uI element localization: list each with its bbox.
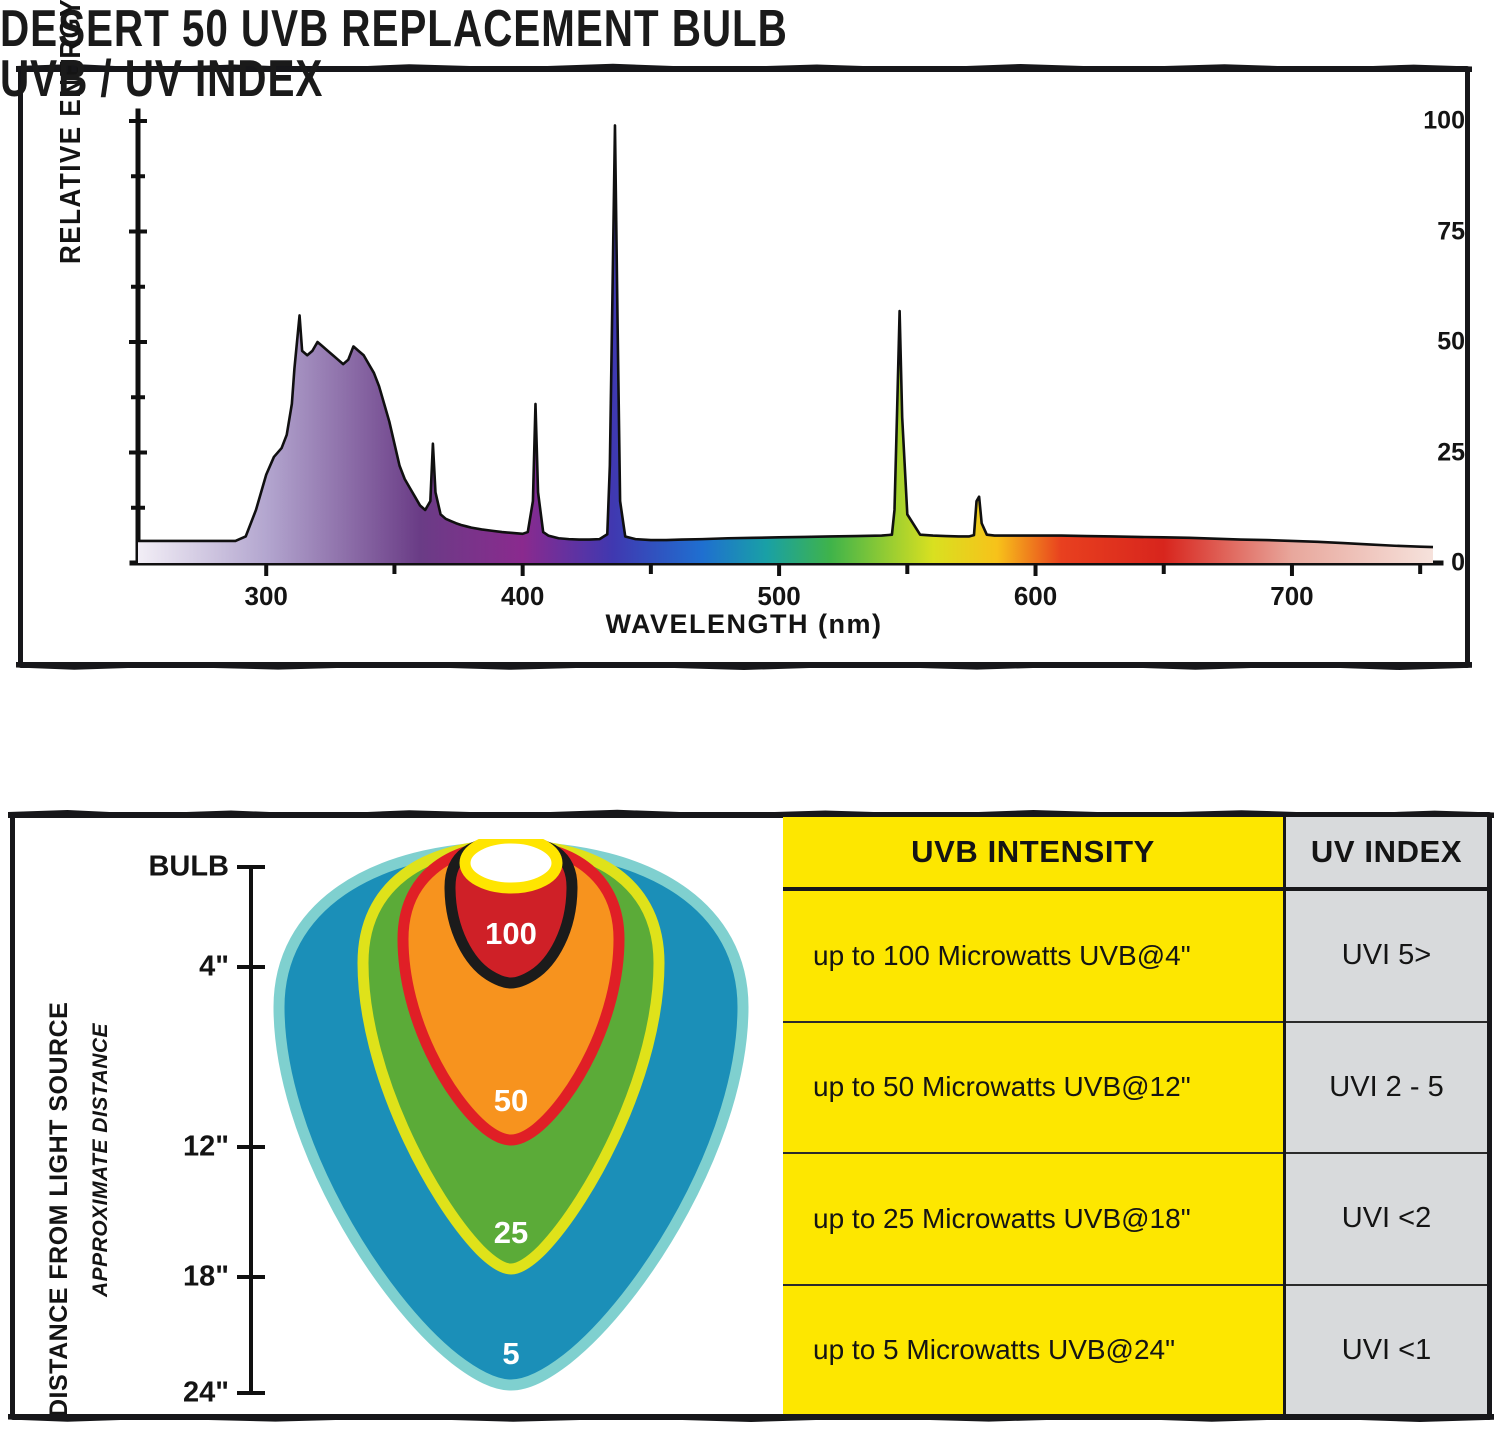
table-row: up to 25 Microwatts UVB@18"	[783, 1154, 1283, 1286]
distance-axis-label: DISTANCE FROM LIGHT SOURCE	[45, 1002, 74, 1417]
table-header-uvb-intensity: UVB INTENSITY	[783, 817, 1283, 891]
bulb-glass	[465, 839, 557, 888]
spectrum-area-fill	[138, 125, 1433, 563]
uvb-uvindex-table: UVB INTENSITY up to 100 Microwatts UVB@4…	[783, 817, 1487, 1415]
spectrum-plot-svg	[23, 71, 1465, 663]
cone-label-25: 25	[494, 1215, 528, 1250]
distance-tick-label: 24"	[111, 1377, 229, 1410]
cone-label-100: 100	[485, 916, 537, 951]
cone-label-50: 50	[494, 1083, 528, 1118]
table-cell-uv-index: UVI 2 - 5	[1286, 1023, 1487, 1155]
uv-index-panel: DISTANCE FROM LIGHT SOURCE APPROXIMATE D…	[10, 812, 1492, 1420]
distance-tick-label: 4"	[111, 951, 229, 984]
uv-output-cone-diagram: 100 50 25 5	[261, 839, 761, 1409]
table-row: up to 100 Microwatts UVB@4"	[783, 891, 1283, 1023]
table-row: up to 50 Microwatts UVB@12"	[783, 1023, 1283, 1155]
table-cell-uv-index: UVI <2	[1286, 1154, 1487, 1286]
table-column-uv-index: UV INDEX UVI 5> UVI 2 - 5 UVI <2 UVI <1	[1283, 817, 1487, 1415]
spectrum-chart-panel: RELATIVE ENERGY WAVELENGTH (nm) 02550751…	[18, 66, 1470, 668]
uvindex-section-title: UVB / UV INDEX	[0, 50, 1380, 109]
table-cell-uv-index: UVI 5>	[1286, 891, 1487, 1023]
cone-label-5: 5	[502, 1336, 519, 1371]
distance-tick-label: 18"	[111, 1261, 229, 1294]
table-cell-uv-index: UVI <1	[1286, 1286, 1487, 1416]
distance-tick-label: BULB	[111, 851, 229, 884]
table-row: up to 5 Microwatts UVB@24"	[783, 1286, 1283, 1416]
distance-tick-label: 12"	[111, 1131, 229, 1164]
table-header-uv-index: UV INDEX	[1286, 817, 1487, 891]
spectral-power-distribution-chart: RELATIVE ENERGY WAVELENGTH (nm) 02550751…	[23, 71, 1465, 663]
distance-axis-sublabel: APPROXIMATE DISTANCE	[89, 1023, 113, 1297]
table-column-uvb-intensity: UVB INTENSITY up to 100 Microwatts UVB@4…	[783, 817, 1283, 1415]
